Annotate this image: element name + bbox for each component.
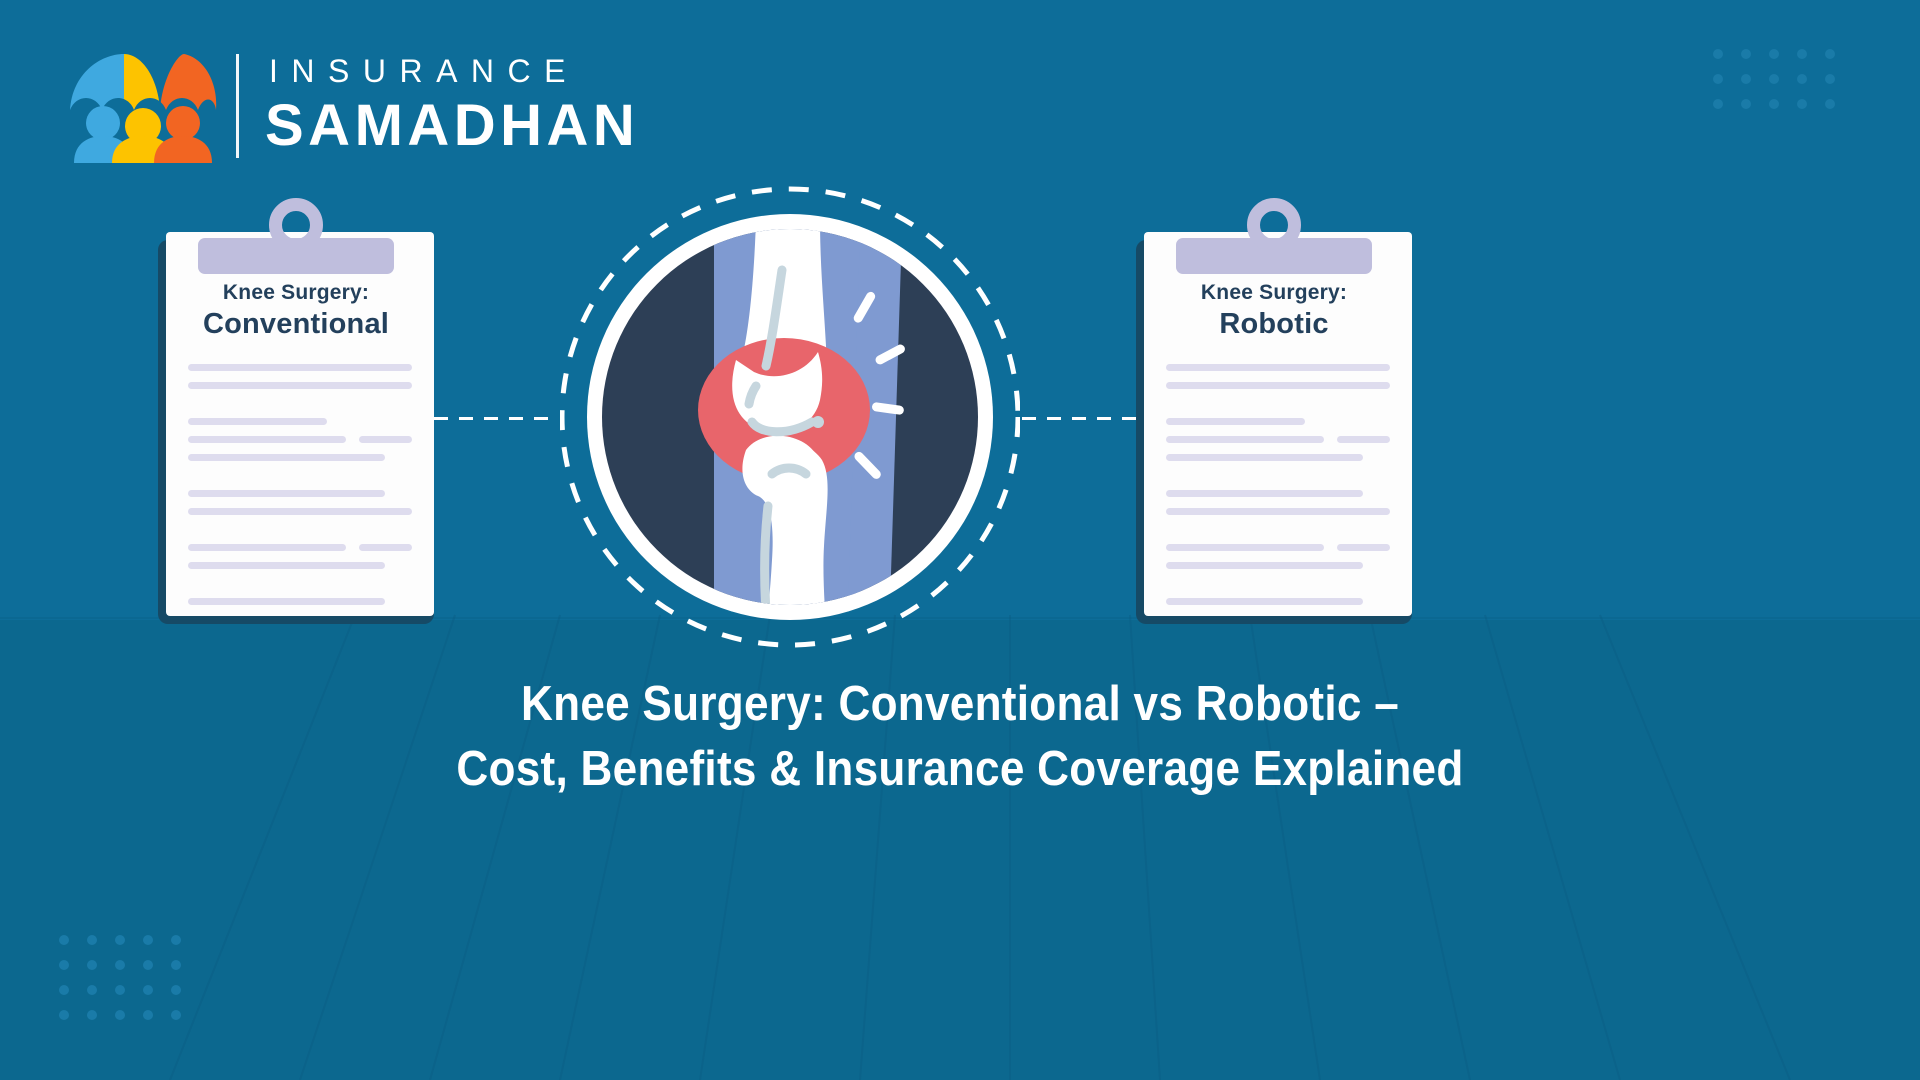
clipboard-line-row: [188, 382, 412, 400]
clipboard-line-row: [1166, 598, 1390, 616]
clipboard-clip-ring-icon: [1247, 198, 1301, 252]
clipboard-line-row: [188, 598, 412, 616]
clipboard-line: [1166, 562, 1363, 569]
clipboard-line-row: [188, 472, 412, 490]
clipboard-title-small: Knee Surgery:: [176, 280, 416, 306]
dashed-connector-left: [434, 417, 556, 420]
logo-divider: [236, 54, 239, 158]
page-title-line-1: Knee Surgery: Conventional vs Robotic –: [96, 672, 1824, 737]
clipboard-line-row: [1166, 544, 1390, 562]
clipboard-line: [1166, 508, 1390, 515]
clipboard-line: [1166, 598, 1363, 605]
clipboard-title-big: Robotic: [1154, 307, 1394, 342]
clipboard-line: [1166, 436, 1324, 443]
clipboard-text-lines: [1166, 364, 1390, 616]
umbrella-family-icon: [62, 48, 222, 163]
clipboard-line: [188, 418, 327, 425]
logo-line-samadhan: SAMADHAN: [265, 96, 639, 157]
clipboard-line-row: [1166, 418, 1390, 436]
clipboard-line-row: [1166, 364, 1390, 382]
clipboard-line: [188, 508, 412, 515]
clipboard-line-row: [1166, 490, 1390, 508]
clipboard-line: [188, 490, 385, 497]
clipboard-line: [1166, 544, 1324, 551]
clipboard-line: [1166, 418, 1305, 425]
clipboard-line-row: [188, 580, 412, 598]
clipboard-line-row: [1166, 508, 1390, 526]
clipboard-line-row: [1166, 382, 1390, 400]
clipboard-line-row: [1166, 454, 1390, 472]
clipboard-title-small: Knee Surgery:: [1154, 280, 1394, 306]
clipboard-line: [188, 436, 346, 443]
knee-joint-illustration[interactable]: [560, 160, 1020, 675]
clipboard-conventional[interactable]: Knee Surgery: Conventional: [158, 232, 434, 624]
clipboard-line-row: [188, 544, 412, 562]
clipboard-line-row: [188, 490, 412, 508]
clipboard-line-row: [188, 418, 412, 436]
clipboard-line: [359, 436, 412, 443]
clipboard-robotic[interactable]: Knee Surgery: Robotic: [1136, 232, 1412, 624]
clipboard-line: [1337, 436, 1390, 443]
clipboard-line: [1166, 490, 1363, 497]
dashed-connector-right: [1022, 417, 1142, 420]
clipboard-line: [188, 364, 412, 371]
clipboard-line-row: [1166, 400, 1390, 418]
clipboard-line-row: [1166, 562, 1390, 580]
clipboard-line-row: [1166, 472, 1390, 490]
clipboard-line-row: [188, 400, 412, 418]
clipboard-line: [1166, 454, 1363, 461]
clipboard-line-row: [188, 364, 412, 382]
dot-grid-bottom-left: [58, 934, 198, 1024]
logo-line-insurance: INSURANCE: [265, 55, 639, 87]
clipboard-line: [188, 598, 385, 605]
clipboard-line-row: [188, 562, 412, 580]
clipboard-line-row: [1166, 526, 1390, 544]
clipboard-line-row: [188, 508, 412, 526]
clipboard-line-row: [1166, 580, 1390, 598]
dot-grid-top-right: [1712, 48, 1842, 128]
clipboard-line-row: [1166, 436, 1390, 454]
clipboard-line-row: [188, 526, 412, 544]
clipboard-line: [188, 562, 385, 569]
clipboard-line: [188, 544, 346, 551]
clipboard-line: [1337, 544, 1390, 551]
clipboard-line: [1166, 382, 1390, 389]
clipboard-line-row: [188, 436, 412, 454]
clipboard-title-block: Knee Surgery: Conventional: [158, 280, 434, 342]
clipboard-clip-ring-icon: [269, 198, 323, 252]
page-title-line-2: Cost, Benefits & Insurance Coverage Expl…: [96, 737, 1824, 802]
clipboard-title-big: Conventional: [176, 307, 416, 342]
clipboard-line: [359, 544, 412, 551]
clipboard-line: [1166, 364, 1390, 371]
brand-logo[interactable]: INSURANCE SAMADHAN: [62, 48, 639, 163]
knee-scene: [602, 220, 978, 660]
clipboard-line-row: [188, 454, 412, 472]
clipboard-title-block: Knee Surgery: Robotic: [1136, 280, 1412, 342]
page-title: Knee Surgery: Conventional vs Robotic – …: [0, 672, 1920, 801]
clipboard-text-lines: [188, 364, 412, 616]
clipboard-line: [188, 454, 385, 461]
clipboard-line: [188, 382, 412, 389]
